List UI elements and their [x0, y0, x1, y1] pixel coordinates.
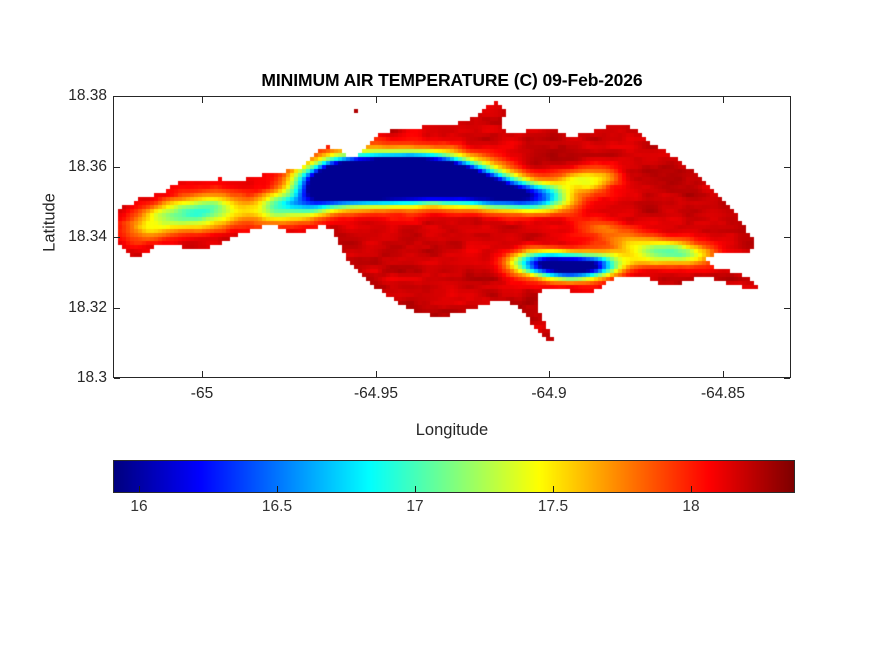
y-tick-label: 18.38 — [7, 87, 107, 105]
x-tick-mark — [549, 97, 550, 103]
y-tick-mark — [784, 96, 790, 97]
y-tick-mark — [784, 308, 790, 309]
figure-canvas: MINIMUM AIR TEMPERATURE (C) 09-Feb-2026 … — [0, 0, 875, 656]
colorbar-tick-label: 16 — [130, 498, 147, 516]
x-tick-label: -64.9 — [531, 385, 566, 403]
y-tick-mark — [784, 378, 790, 379]
colorbar-tick-label: 18 — [682, 498, 699, 516]
y-tick-mark — [114, 308, 120, 309]
x-tick-mark — [549, 371, 550, 377]
x-tick-label: -65 — [191, 385, 213, 403]
x-axis-title: Longitude — [113, 421, 791, 440]
colorbar-tick-mark — [415, 486, 416, 492]
temperature-heatmap — [114, 97, 790, 377]
y-tick-mark — [114, 237, 120, 238]
map-axes[interactable] — [113, 96, 791, 378]
x-tick-mark — [202, 97, 203, 103]
x-tick-mark — [376, 371, 377, 377]
x-tick-mark — [723, 97, 724, 103]
y-axis-title: Latitude — [41, 163, 60, 283]
colorbar-tick-mark — [139, 486, 140, 492]
y-tick-mark — [784, 167, 790, 168]
y-tick-mark — [784, 237, 790, 238]
colorbar-tick-mark — [691, 486, 692, 492]
page-title: MINIMUM AIR TEMPERATURE (C) 09-Feb-2026 — [113, 70, 791, 91]
x-tick-mark — [376, 97, 377, 103]
colorbar-gradient — [113, 460, 795, 493]
y-tick-mark — [114, 378, 120, 379]
x-tick-mark — [202, 371, 203, 377]
colorbar-tick-label: 16.5 — [262, 498, 292, 516]
y-tick-label: 18.3 — [7, 369, 107, 387]
colorbar-tick-label: 17 — [406, 498, 423, 516]
colorbar[interactable] — [113, 460, 795, 493]
y-tick-mark — [114, 167, 120, 168]
x-tick-mark — [723, 371, 724, 377]
x-tick-label: -64.95 — [354, 385, 398, 403]
colorbar-tick-label: 17.5 — [538, 498, 568, 516]
colorbar-tick-mark — [553, 486, 554, 492]
x-tick-label: -64.85 — [701, 385, 745, 403]
y-tick-label: 18.32 — [7, 299, 107, 317]
y-tick-mark — [114, 96, 120, 97]
colorbar-tick-mark — [277, 486, 278, 492]
